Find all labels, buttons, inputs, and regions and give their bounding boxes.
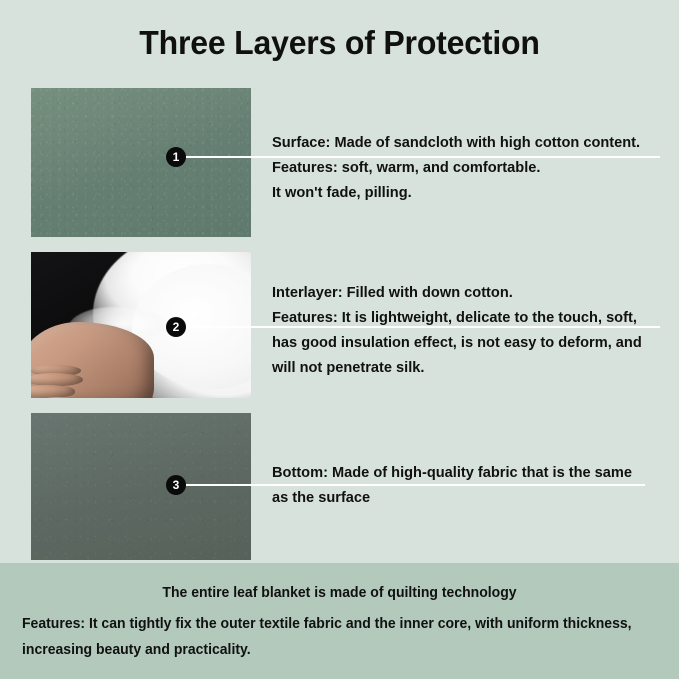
finger	[31, 373, 83, 387]
layer-image-surface	[31, 88, 251, 237]
layer-text-interlayer: Interlayer: Filled with down cotton. Fea…	[272, 281, 672, 381]
layer-text-line: as the surface	[272, 486, 672, 511]
layer-text-line: has good insulation effect, is not easy …	[272, 331, 672, 356]
page-title: Three Layers of Protection	[10, 24, 669, 62]
layer-text-surface: Surface: Made of sandcloth with high cot…	[272, 131, 672, 206]
layer-image-bottom	[31, 413, 251, 560]
layer-text-line: Features: It is lightweight, delicate to…	[272, 306, 672, 331]
layer-text-line: Surface: Made of sandcloth with high cot…	[272, 131, 672, 156]
footer-text-line: increasing beauty and practicality.	[22, 637, 641, 663]
layer-text-line: Features: soft, warm, and comfortable.	[272, 156, 672, 181]
layer-text-line: It won't fade, pilling.	[272, 181, 672, 206]
layer-image-interlayer	[31, 252, 251, 398]
layer-text-line: Interlayer: Filled with down cotton.	[272, 281, 672, 306]
footer-body-text: Features: It can tightly fix the outer t…	[22, 611, 641, 663]
footer-band: The entire leaf blanket is made of quilt…	[0, 563, 679, 679]
footer-text-line: Features: It can tightly fix the outer t…	[22, 611, 641, 637]
layer-text-line: Bottom: Made of high-quality fabric that…	[272, 461, 672, 486]
infographic-root: Three Layers of Protection 1 2	[0, 0, 679, 679]
finger	[31, 385, 75, 398]
footer-lead-text: The entire leaf blanket is made of quilt…	[14, 585, 666, 601]
layer-text-bottom: Bottom: Made of high-quality fabric that…	[272, 461, 672, 511]
layer-text-line: will not penetrate silk.	[272, 356, 672, 381]
